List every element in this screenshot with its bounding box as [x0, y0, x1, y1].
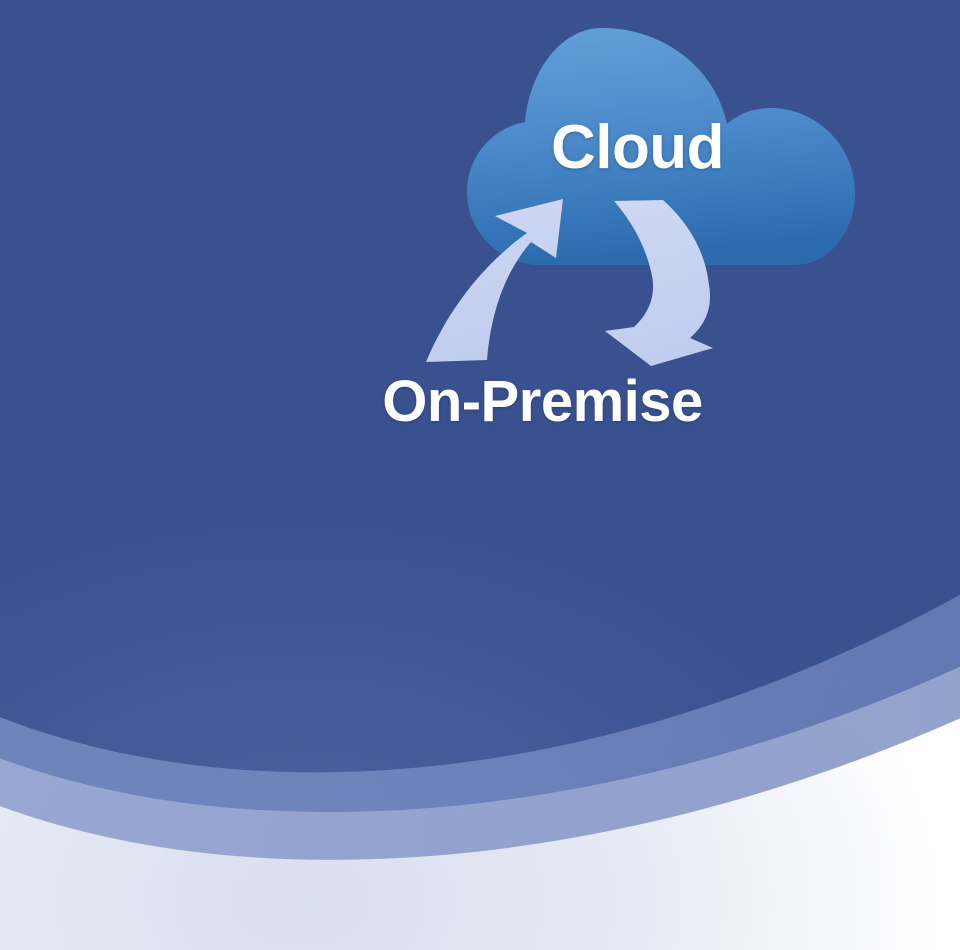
- arrow-down-to-on-premise: [605, 200, 713, 366]
- arrow-up-to-cloud: [426, 199, 563, 362]
- on-premise-label: On-Premise: [0, 368, 960, 436]
- cloud-label: Cloud: [0, 112, 960, 184]
- slide-canvas: Cloud On-Premise: [0, 0, 960, 950]
